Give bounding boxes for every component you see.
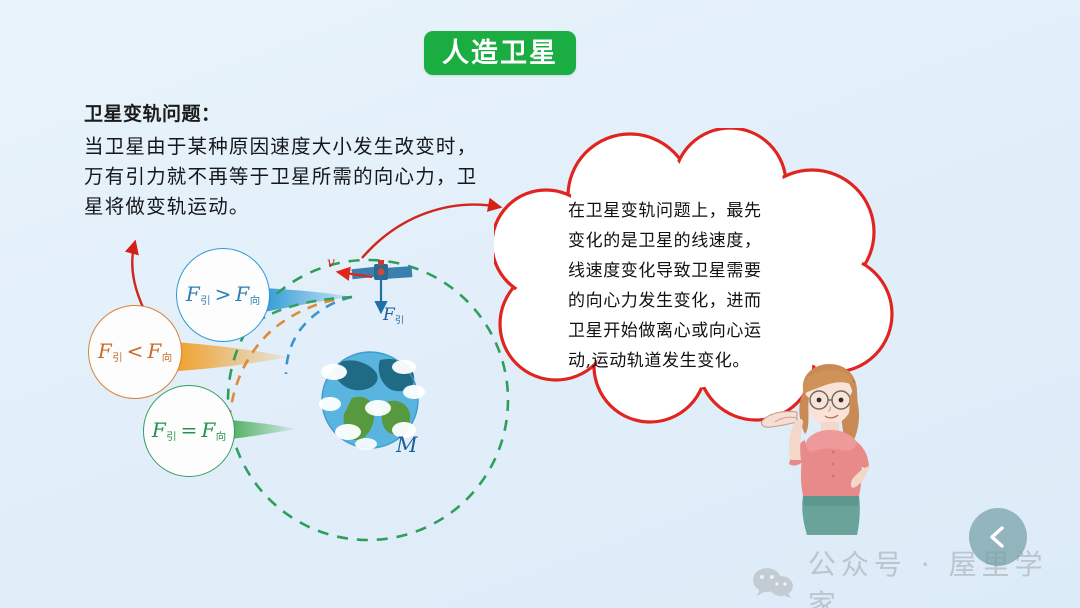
chevron-left-icon: [985, 524, 1011, 550]
callout-tail-equal: [228, 420, 296, 439]
back-button[interactable]: [969, 508, 1027, 566]
force-bubble-equal-label: F引=F向: [152, 420, 226, 442]
velocity-label: v: [327, 255, 335, 271]
watermark: 公众号 · 屋里学家: [752, 543, 1080, 608]
cloud-line: 的向心力发生变化，进而: [568, 286, 856, 316]
teacher-character-illustration: [745, 360, 875, 535]
force-bubble-less: F引<F向: [88, 305, 182, 399]
watermark-text: 公众号 · 屋里学家: [808, 543, 1080, 608]
slide-canvas: 人造卫星 卫星变轨问题： 当卫星由于某种原因速度大小发生改变时， 万有引力就不再…: [0, 0, 1080, 608]
force-bubble-greater: F引>F向: [176, 248, 270, 342]
cloud-line: 线速度变化导致卫星需要: [568, 256, 856, 286]
force-bubble-greater-label: F引>F向: [186, 284, 260, 306]
wechat-icon: [752, 567, 794, 599]
force-bubble-equal: F引=F向: [143, 385, 235, 477]
force-bubble-less-label: F引<F向: [98, 341, 172, 363]
arrow-to-cloud: [362, 205, 500, 258]
callout-tail-less: [176, 342, 288, 371]
earth-mass-label: M: [396, 433, 418, 457]
cloud-line: 变化的是卫星的线速度，: [568, 226, 856, 256]
cloud-line: 在卫星变轨问题上，最先: [568, 196, 856, 226]
callout-tail-greater: [262, 288, 352, 312]
cloud-line: 卫星开始做离心或向心运: [568, 316, 856, 346]
gravity-label: F引: [383, 305, 404, 326]
cloud-bubble-text: 在卫星变轨问题上，最先 变化的是卫星的线速度， 线速度变化导致卫星需要 的向心力…: [568, 196, 856, 376]
